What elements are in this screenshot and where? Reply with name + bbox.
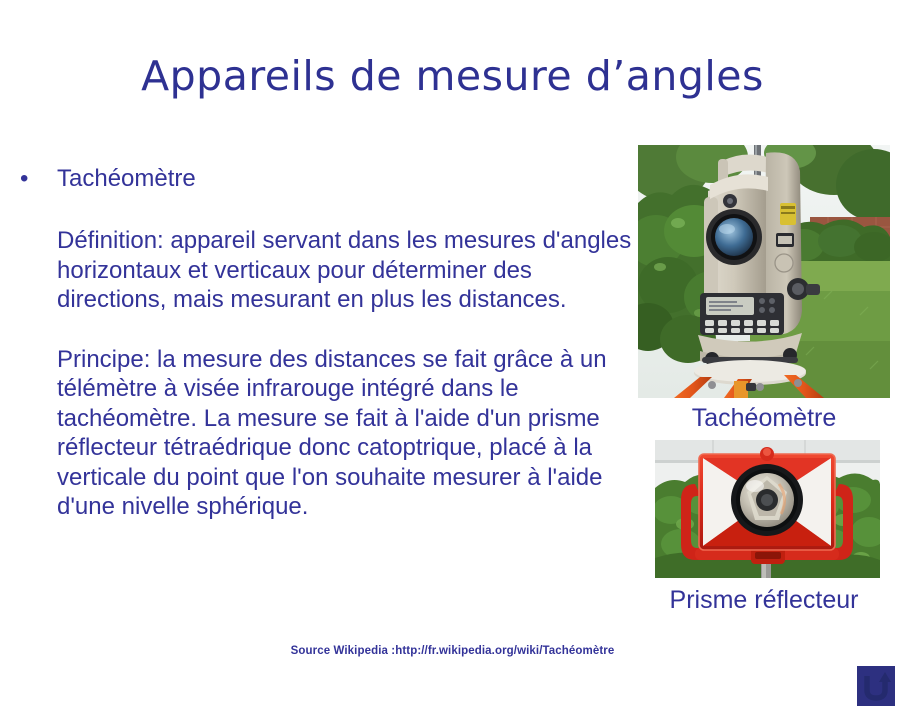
body-text-block: • Tachéomètre Définition: appareil serva… xyxy=(12,164,637,522)
source-attribution: Source Wikipedia :http://fr.wikipedia.or… xyxy=(0,645,905,657)
prisme-reflecteur-illustration xyxy=(655,440,880,578)
u-arrow-logo xyxy=(857,666,895,706)
tacheometre-illustration xyxy=(638,145,890,398)
paragraph-principe: Principe: la mesure des distances se fai… xyxy=(12,345,637,522)
paragraph-definition: Définition: appareil servant dans les me… xyxy=(12,226,637,315)
bullet-icon: • xyxy=(20,164,28,194)
figure-tacheometre-photo xyxy=(638,145,890,398)
page-title: Appareils de mesure d’angles xyxy=(0,52,905,100)
figure-prisme-photo xyxy=(655,440,880,578)
list-item: • Tachéomètre xyxy=(12,164,637,194)
figure-caption-tacheometre: Tachéomètre xyxy=(614,404,905,432)
figure-caption-prisme: Prisme réflecteur xyxy=(614,586,905,614)
list-item-label: Tachéomètre xyxy=(57,165,196,192)
u-arrow-icon xyxy=(857,666,895,706)
